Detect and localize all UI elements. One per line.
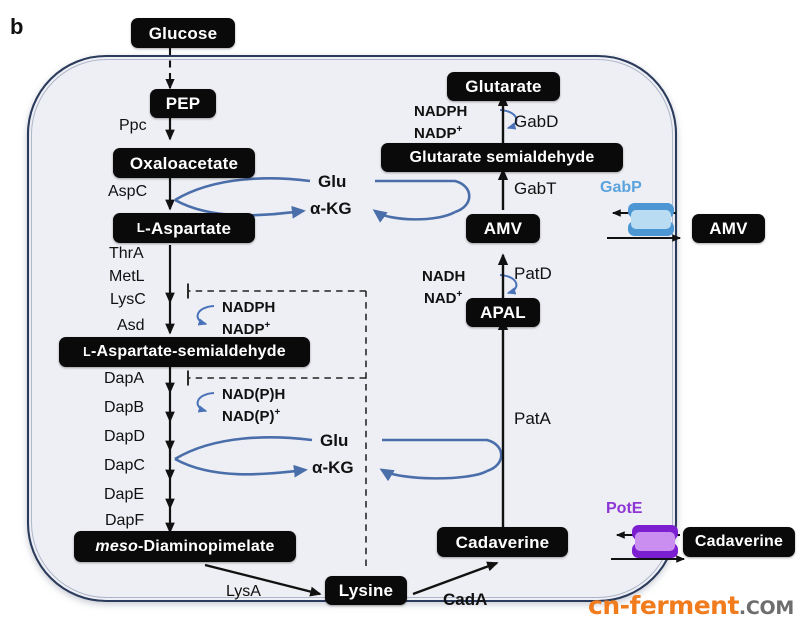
metabolite-glucose[interactable]: Glucose (131, 18, 235, 48)
enzyme-gabt: GabT (514, 180, 557, 197)
enzyme-dapd: DapD (104, 429, 145, 445)
carrier-akg-top: α-KG (310, 200, 352, 217)
enzyme-metl: MetL (109, 269, 145, 285)
enzyme-aspc: AspC (108, 184, 147, 200)
metabolite-l-aspartate[interactable]: L-Aspartate (113, 213, 255, 243)
enzyme-asd: Asd (117, 318, 145, 334)
carrier-glu-top: Glu (318, 173, 346, 190)
watermark-tld: .COM (739, 597, 794, 619)
l-prefix: L (137, 221, 145, 234)
cofactor-nad-plus-patd: NAD+ (424, 291, 462, 306)
cofactor-nadp-plus-gabd: NADP+ (414, 126, 462, 141)
l-prefix: L (83, 346, 91, 358)
pathway-diagram: b Glucose PEP Oxaloacetate L-Aspartate L… (0, 0, 800, 632)
enzyme-dapc: DapC (104, 458, 145, 474)
metabolite-amv-intracellular[interactable]: AMV (466, 214, 540, 243)
transporter-label-gabp: GabP (600, 180, 642, 196)
metabolite-cadaverine-extracellular[interactable]: Cadaverine (683, 527, 795, 557)
metabolite-glutarate[interactable]: Glutarate (447, 72, 560, 101)
gabp-transporter[interactable] (628, 203, 674, 236)
metabolite-meso-diaminopimelate[interactable]: meso-Diaminopimelate (74, 531, 296, 562)
cofactor-nadh-patd: NADH (422, 269, 465, 284)
enzyme-patd: PatD (514, 265, 552, 282)
enzyme-cada: CadA (443, 591, 487, 608)
cofactor-nadp-plus-dapb: NAD(P)+ (222, 409, 280, 424)
carrier-glu-bottom: Glu (320, 432, 348, 449)
metabolite-apal[interactable]: APAL (466, 298, 540, 327)
meso-prefix: meso (95, 539, 138, 555)
cofactor-nadph-asd: NADPH (222, 300, 275, 315)
metabolite-oxaloacetate[interactable]: Oxaloacetate (113, 148, 255, 178)
metabolite-lysine[interactable]: Lysine (325, 576, 407, 605)
enzyme-gabd: GabD (514, 113, 558, 130)
enzyme-lysa: LysA (226, 584, 261, 600)
metabolite-l-aspartate-semialdehyde[interactable]: L-Aspartate-semialdehyde (59, 337, 310, 367)
enzyme-dapa: DapA (104, 371, 144, 387)
enzyme-pata: PatA (514, 410, 551, 427)
metabolite-cadaverine-intracellular[interactable]: Cadaverine (437, 527, 568, 557)
enzyme-dape: DapE (104, 487, 144, 503)
transporter-label-pote: PotE (606, 501, 642, 517)
metabolite-amv-extracellular[interactable]: AMV (692, 214, 765, 243)
enzyme-dapf: DapF (105, 513, 144, 529)
enzyme-lysc: LysC (110, 292, 146, 308)
cofactor-nadph-dapb: NAD(P)H (222, 387, 285, 402)
watermark: cn-ferment.COM (588, 591, 794, 620)
watermark-name: cn-ferment (588, 591, 739, 620)
cofactor-nadp-plus-asd: NADP+ (222, 322, 270, 337)
enzyme-thra: ThrA (109, 246, 144, 262)
panel-label: b (10, 14, 23, 40)
metabolite-glutarate-semialdehyde[interactable]: Glutarate semialdehyde (381, 143, 623, 172)
enzyme-dapb: DapB (104, 400, 144, 416)
carrier-akg-bottom: α-KG (312, 459, 354, 476)
enzyme-ppc: Ppc (119, 118, 147, 134)
cofactor-nadph-gabd: NADPH (414, 104, 467, 119)
pote-transporter[interactable] (632, 525, 678, 558)
metabolite-pep[interactable]: PEP (150, 89, 216, 118)
